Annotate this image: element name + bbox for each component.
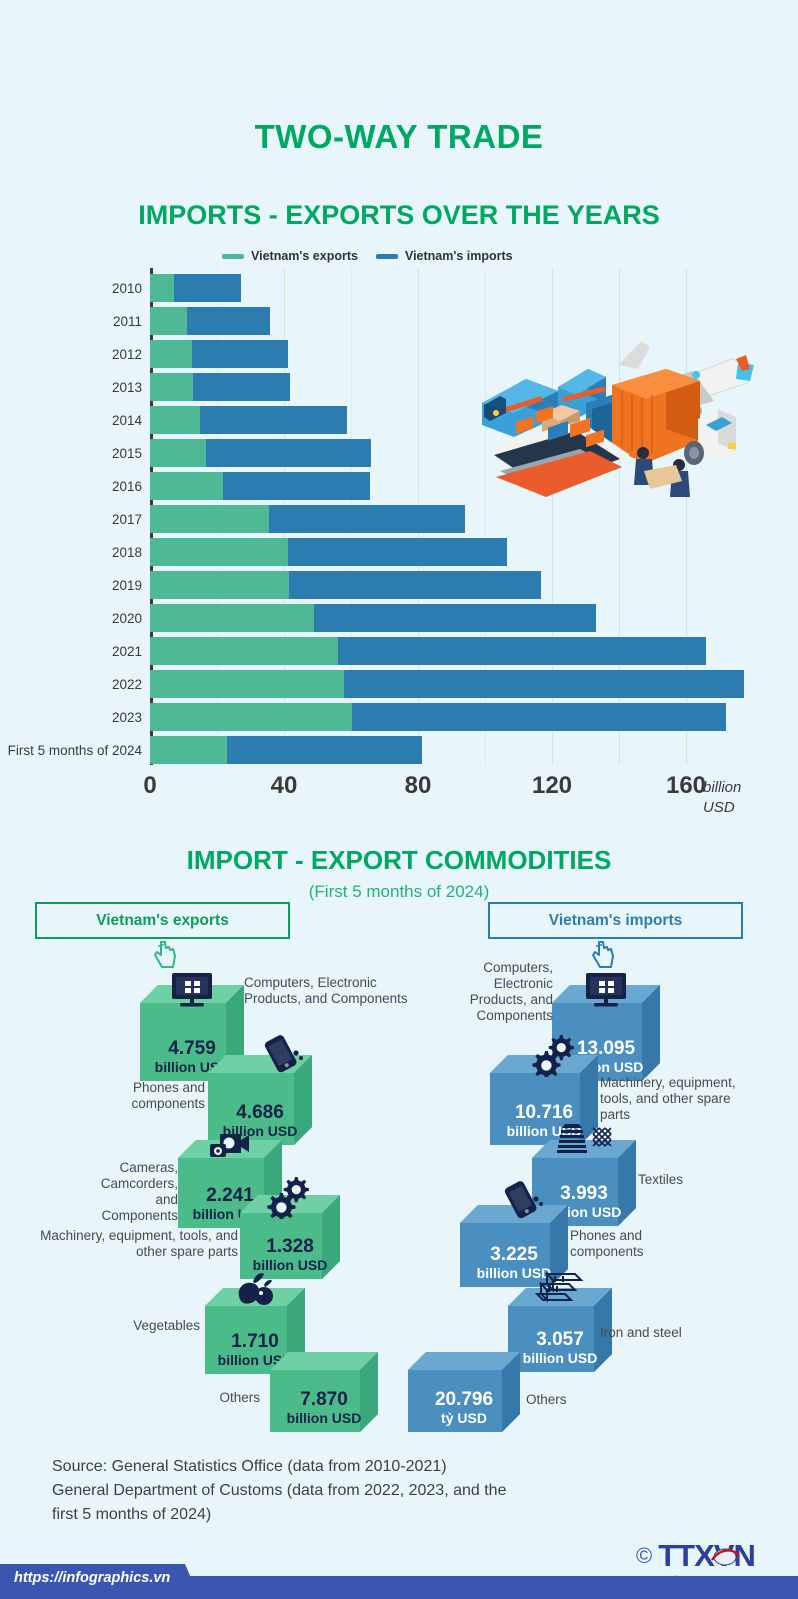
commodity-label: Vegetables [95,1318,200,1334]
chart-bar-row [150,538,507,566]
commodity-label: Cameras, Camcorders, and Components [78,1160,178,1224]
commodity-label: Computers, Electronic Products, and Comp… [244,975,419,1007]
monitor-icon [170,971,214,1007]
chart-bar-row [150,703,726,731]
bar-segment-imports [338,637,706,665]
legend-label-imports: Vietnam's imports [405,249,513,263]
chart-category-label: 2013 [0,380,142,395]
chart-legend: Vietnam's exports Vietnam's imports [222,249,513,263]
cursor-pointer-icon-exports [152,940,178,970]
globe-swoosh-icon [710,1544,740,1568]
chart-category-label: 2018 [0,545,142,560]
x-axis-tick-120: 120 [532,772,572,800]
commodity-value: 20.796 [435,1390,493,1410]
chart-category-label: 2020 [0,611,142,626]
commodity-label: Phones and components [95,1080,205,1112]
commodity-unit: billion USD [523,1350,598,1366]
bar-segment-exports [150,373,193,401]
commodity-value: 4.686 [236,1103,284,1123]
commodity-value: 3.057 [536,1330,584,1350]
panel-header-exports: Vietnam's exports [35,902,290,939]
ttxvn-logo: © TTXVN Vietnam News Agency [636,1538,755,1574]
bar-segment-imports [314,604,596,632]
bar-segment-imports [289,571,542,599]
chart-category-label: 2014 [0,413,142,428]
cursor-pointer-icon-imports [590,940,616,970]
bar-segment-exports [150,703,352,731]
commodity-value: 3.993 [560,1184,608,1204]
camera-icon [208,1124,252,1160]
commodity-label: Computers, Electronic Products, and Comp… [458,960,553,1024]
chart-category-label: 2015 [0,446,142,461]
bar-segment-imports [187,307,269,335]
chart-unit-label: billion USD [703,778,741,819]
gears-icon [532,1033,578,1077]
steel-icon [535,1270,585,1304]
commodity-label: Machinery, equipment, tools, and other s… [600,1075,760,1123]
chart-bar-row [150,373,290,401]
x-axis-tick-0: 0 [143,772,156,800]
bar-segment-exports [150,736,227,764]
x-axis-tick-160: 160 [666,772,706,800]
chart-category-label: 2010 [0,281,142,296]
bar-segment-imports [227,736,422,764]
commodity-label: Machinery, equipment, tools, and other s… [28,1228,238,1260]
gears-icon-wrapper [267,1175,313,1224]
legend-item-imports: Vietnam's imports [376,249,513,263]
bar-segment-imports [192,340,288,368]
commodity-label: Phones and components [570,1228,680,1260]
source-line-1: Source: General Statistics Office (data … [52,1455,672,1479]
chart-bar-row [150,340,288,368]
legend-swatch-exports [222,254,244,259]
commodity-cube[interactable]: 7.870 billion USD [270,1352,378,1432]
vegetables-icon-wrapper [233,1270,277,1313]
page-title: TWO-WAY TRADE [0,118,798,156]
logistics-illustration [470,325,775,515]
chart-bar-row [150,571,541,599]
cube-content: 7.870 billion USD [270,1352,378,1432]
legend-label-exports: Vietnam's exports [251,249,358,263]
bar-segment-imports [344,670,744,698]
commodity-cube[interactable]: 3.057 billion USD [508,1288,612,1372]
gears-icon [267,1175,313,1219]
commodity-label: Textiles [638,1172,728,1188]
commodity-cube[interactable]: 1.328 billion USD [240,1195,340,1279]
source-line-2: General Department of Customs (data from… [52,1479,672,1503]
bar-segment-imports [223,472,369,500]
phone-icon [500,1179,546,1219]
website-url: https://infographics.vn [14,1570,170,1586]
chart-x-axis: 04080120160 [0,772,798,812]
bar-segment-exports [150,670,344,698]
commodity-cube[interactable]: 20.796 tỷ USD [408,1352,520,1432]
chart-bar-row [150,307,270,335]
section-title-commodities: IMPORT - EXPORT COMMODITIES [0,845,798,876]
commodity-value: 1.328 [266,1237,314,1257]
monitor-icon [584,971,628,1007]
bar-segment-exports [150,307,187,335]
commodity-value: 7.870 [300,1390,348,1410]
camera-icon-wrapper [208,1124,252,1165]
bar-segment-exports [150,340,192,368]
commodity-value: 1.710 [231,1332,279,1352]
commodity-unit: tỷ USD [441,1410,487,1426]
chart-category-label: 2016 [0,479,142,494]
chart-category-label: First 5 months of 2024 [0,743,142,758]
textiles-icon [555,1120,613,1156]
commodity-label: Iron and steel [600,1325,710,1341]
commodity-value: 3.225 [490,1245,538,1265]
chart-bar-row [150,274,241,302]
panel-header-imports: Vietnam's imports [488,902,743,939]
bar-segment-exports [150,505,269,533]
monitor-icon-wrapper [584,971,628,1012]
bar-segment-exports [150,571,289,599]
phone-icon [260,1033,306,1073]
chart-category-label: 2019 [0,578,142,593]
gears-icon-wrapper [532,1033,578,1082]
chart-category-label: 2022 [0,677,142,692]
chart-category-label: 2023 [0,710,142,725]
source-note: Source: General Statistics Office (data … [52,1455,672,1527]
chart-bar-row [150,637,706,665]
bar-segment-exports [150,604,314,632]
bar-segment-imports [193,373,290,401]
phone-icon-wrapper [500,1179,546,1224]
bar-segment-imports [352,703,726,731]
legend-item-exports: Vietnam's exports [222,249,358,263]
copyright-symbol: © [636,1543,652,1569]
bar-segment-exports [150,472,223,500]
commodity-label: Others [526,1392,626,1408]
commodity-label: Others [160,1390,260,1406]
chart-bar-row [150,439,371,467]
chart-category-label: 2012 [0,347,142,362]
bar-segment-imports [206,439,372,467]
x-axis-tick-80: 80 [405,772,432,800]
steel-icon-wrapper [535,1270,585,1309]
chart-category-label: 2021 [0,644,142,659]
bar-segment-exports [150,406,200,434]
bar-segment-imports [269,505,465,533]
phone-icon-wrapper [260,1033,306,1078]
chart-bar-row [150,604,596,632]
x-axis-tick-40: 40 [271,772,298,800]
bar-segment-exports [150,538,288,566]
bar-segment-exports [150,274,174,302]
chart-category-label: 2011 [0,314,142,329]
infographic-page: TWO-WAY TRADE IMPORTS - EXPORTS OVER THE… [0,0,798,1599]
bar-segment-imports [200,406,346,434]
chart-bar-row [150,505,465,533]
section-subtitle-commodities: (First 5 months of 2024) [0,882,798,902]
section-title-imports-exports: IMPORTS - EXPORTS OVER THE YEARS [0,200,798,231]
chart-bar-row [150,670,744,698]
bar-segment-exports [150,637,338,665]
source-line-3: first 5 months of 2024) [52,1503,672,1527]
vegetables-icon [233,1270,277,1308]
textiles-icon-wrapper [555,1120,613,1161]
chart-category-label: 2017 [0,512,142,527]
agency-name: TTXVN [658,1538,755,1573]
chart-bar-row [150,406,347,434]
monitor-icon-wrapper [170,971,214,1012]
cube-content: 20.796 tỷ USD [408,1352,520,1432]
bar-segment-imports [288,538,507,566]
chart-bar-row [150,472,370,500]
commodity-unit: billion USD [287,1410,362,1426]
bar-segment-exports [150,439,206,467]
legend-swatch-imports [376,254,398,259]
bar-segment-imports [174,274,241,302]
chart-bar-row [150,736,422,764]
